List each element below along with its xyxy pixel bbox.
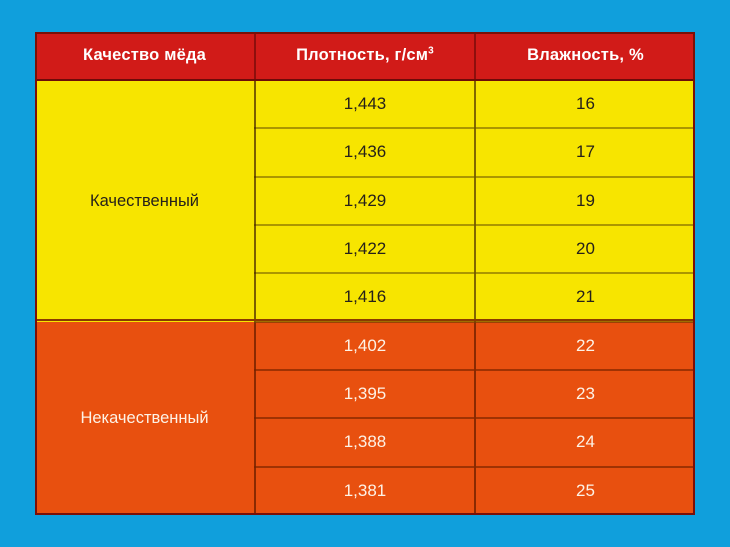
cell-moisture: 25 xyxy=(475,467,695,515)
column-header-density-text: Плотность, г/см xyxy=(296,46,428,64)
cell-moisture: 21 xyxy=(475,273,695,321)
density-superscript: 3 xyxy=(428,46,434,57)
table-body: Качественный 1,443 16 1,436 17 1,429 19 … xyxy=(35,80,695,515)
column-header-moisture: Влажность, % xyxy=(475,32,695,80)
group-label-bad: Некачественный xyxy=(35,322,255,515)
table-row: Некачественный 1,402 22 xyxy=(35,322,695,370)
cell-density: 1,429 xyxy=(255,177,475,225)
cell-moisture: 17 xyxy=(475,128,695,176)
cell-moisture: 22 xyxy=(475,322,695,370)
table-header: Качество мёда Плотность, г/см3 Влажность… xyxy=(35,32,695,80)
cell-density: 1,416 xyxy=(255,273,475,321)
poster-canvas: Качество мёда Плотность, г/см3 Влажность… xyxy=(0,0,730,547)
cell-density: 1,381 xyxy=(255,467,475,515)
cell-density: 1,395 xyxy=(255,370,475,418)
cell-density: 1,436 xyxy=(255,128,475,176)
column-header-density: Плотность, г/см3 xyxy=(255,32,475,80)
cell-moisture: 23 xyxy=(475,370,695,418)
cell-density: 1,388 xyxy=(255,418,475,466)
cell-moisture: 19 xyxy=(475,177,695,225)
cell-density: 1,422 xyxy=(255,225,475,273)
cell-moisture: 16 xyxy=(475,80,695,128)
cell-moisture: 24 xyxy=(475,418,695,466)
group-label-good: Качественный xyxy=(35,80,255,322)
cell-density: 1,443 xyxy=(255,80,475,128)
column-header-quality: Качество мёда xyxy=(35,32,255,80)
header-row: Качество мёда Плотность, г/см3 Влажность… xyxy=(35,32,695,80)
honey-quality-table: Качество мёда Плотность, г/см3 Влажность… xyxy=(35,32,695,515)
cell-density: 1,402 xyxy=(255,322,475,370)
table-row: Качественный 1,443 16 xyxy=(35,80,695,128)
cell-moisture: 20 xyxy=(475,225,695,273)
